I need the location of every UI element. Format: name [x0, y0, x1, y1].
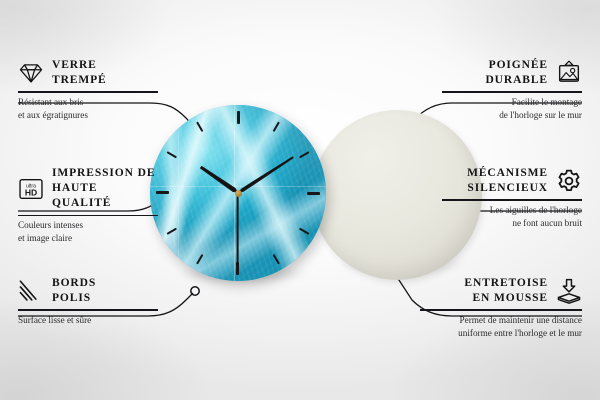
- feature-description: Surface lisse et sûre: [18, 314, 158, 327]
- gear-icon: [556, 168, 582, 194]
- feature-description: Couleurs intenses et image claire: [18, 219, 158, 245]
- feature-title: VERRE TREMPÉ: [52, 58, 107, 88]
- feature-rule: [420, 309, 582, 310]
- clock-hour-marker: [238, 192, 320, 194]
- diamond-icon: [18, 60, 44, 86]
- feature-entretoise-en-mousse: ENTRETOISE EN MOUSSE Permet de maintenir…: [420, 276, 582, 340]
- feature-rule: [18, 215, 158, 216]
- feature-rule: [18, 309, 158, 310]
- svg-text:HD: HD: [25, 187, 37, 197]
- feature-rule: [18, 91, 158, 92]
- feature-title: IMPRESSION DE HAUTE QUALITÉ: [52, 166, 158, 212]
- feature-title: MÉCANISME SILENCIEUX: [467, 166, 548, 196]
- feature-impression-haute-qualite: ultra HD IMPRESSION DE HAUTE QUALITÉ Cou…: [18, 166, 158, 245]
- feature-rule: [442, 199, 582, 200]
- feature-poignee-durable: POIGNÉE DURABLE Facilite le montage de l…: [442, 58, 582, 122]
- ultra-hd-icon: ultra HD: [18, 176, 44, 202]
- feature-description: Permet de maintenir une distance uniform…: [420, 314, 582, 340]
- feature-title: BORDS POLIS: [52, 276, 96, 306]
- clock-front-view: [150, 105, 326, 281]
- clock-center-cap: [235, 190, 242, 197]
- feature-mecanisme-silencieux: MÉCANISME SILENCIEUX Les aiguilles de l'…: [442, 166, 582, 230]
- feature-bords-polis: BORDS POLIS Surface lisse et sûre: [18, 276, 158, 327]
- clock-hour-marker: [156, 192, 238, 194]
- polished-edges-icon: [18, 278, 44, 304]
- feature-description: Les aiguilles de l'horloge ne font aucun…: [442, 204, 582, 230]
- feature-description: Résistant aux bris et aux égratignures: [18, 96, 158, 122]
- feature-title: ENTRETOISE EN MOUSSE: [464, 276, 548, 306]
- clock-hour-marker: [237, 111, 239, 193]
- foam-spacer-icon: [556, 278, 582, 304]
- infographic-stage: VERRE TREMPÉ Résistant aux bris et aux é…: [0, 0, 600, 400]
- picture-hanger-icon: [556, 60, 582, 86]
- feature-title: POIGNÉE DURABLE: [485, 58, 548, 88]
- clock-second-hand: [237, 193, 239, 265]
- feature-description: Facilite le montage de l'horloge sur le …: [442, 96, 582, 122]
- feature-verre-trempe: VERRE TREMPÉ Résistant aux bris et aux é…: [18, 58, 158, 122]
- feature-rule: [442, 91, 582, 92]
